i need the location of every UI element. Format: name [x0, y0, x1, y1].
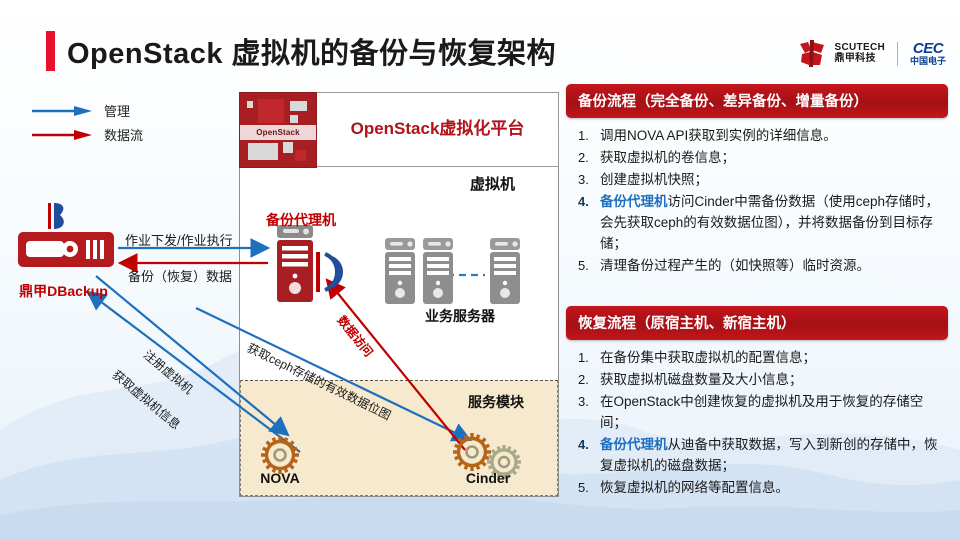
flow-step-text: 在OpenStack中创建恢复的虚拟机及用于恢复的存储空间； [600, 392, 948, 434]
flow-step-text: 获取虚拟机的卷信息； [600, 148, 948, 169]
flow-step-number: 2. [566, 370, 600, 390]
backup-flow-steps: 1.调用NOVA API获取到实例的详细信息。2.获取虚拟机的卷信息；3.创建虚… [566, 126, 948, 276]
scutech-name-cn: 鼎甲科技 [835, 54, 885, 65]
flow-step: 2.获取虚拟机的卷信息； [566, 148, 948, 169]
nova-gear-icon [261, 436, 299, 474]
cec-name-en: CEC [913, 41, 943, 57]
nova-label: NOVA [230, 470, 330, 486]
db-logo-icon-left [48, 203, 64, 229]
business-server-icon-1 [385, 238, 415, 304]
brand-divider [897, 42, 898, 66]
flow-step-highlight: 备份代理机 [600, 437, 668, 452]
flow-step: 3.创建虚拟机快照； [566, 170, 948, 191]
flow-step: 3.在OpenStack中创建恢复的虚拟机及用于恢复的存储空间； [566, 392, 948, 434]
flow-step: 5.清理备份过程产生的（如快照等）临时资源。 [566, 256, 948, 277]
flow-step-text: 获取虚拟机磁盘数量及大小信息； [600, 370, 948, 391]
restore-flow-panel: 恢复流程（原宿主机、新宿主机） 1.在备份集中获取虚拟机的配置信息；2.获取虚拟… [566, 306, 948, 499]
business-server-label: 业务服务器 [390, 306, 530, 326]
flow-step: 4.备份代理机访问Cinder中需备份数据（使用ceph存储时，会先获取ceph… [566, 192, 948, 255]
db-logo-icon-agent [316, 252, 341, 292]
flow-step: 2.获取虚拟机磁盘数量及大小信息； [566, 370, 948, 391]
flow-step-text: 创建虚拟机快照； [600, 170, 948, 191]
scutech-logo-icon [797, 40, 827, 67]
business-server-icon-2 [423, 238, 453, 304]
title-accent-bar [46, 31, 55, 71]
flow-step-text: 在备份集中获取虚拟机的配置信息； [600, 348, 948, 369]
dbackup-server-label: 鼎甲DBackup [6, 281, 121, 301]
backup-flow-heading: 备份流程（完全备份、差异备份、增量备份） [566, 84, 948, 118]
cec-name-cn: 中国电子 [910, 57, 946, 66]
scutech-name-en: SCUTECH [835, 43, 885, 54]
flow-step-number: 3. [566, 170, 600, 190]
flow-step-number: 4. [566, 435, 600, 455]
flow-step-text: 调用NOVA API获取到实例的详细信息。 [600, 126, 948, 147]
dbackup-server-icon [18, 232, 114, 267]
page-title: OpenStack 虚拟机的备份与恢复架构 [46, 30, 556, 72]
flow-step-text: 备份代理机访问Cinder中需备份数据（使用ceph存储时，会先获取ceph的有… [600, 192, 948, 255]
flow-step-number: 2. [566, 148, 600, 168]
flow-step-number: 5. [566, 256, 600, 276]
flow-step-highlight: 备份代理机 [600, 194, 668, 209]
flow-step-number: 5. [566, 478, 600, 498]
scutech-wordmark: SCUTECH 鼎甲科技 [835, 43, 885, 64]
cinder-gear-icon-1 [453, 433, 491, 471]
cinder-label: Cinder [438, 470, 538, 486]
backup-agent-server-icon [277, 225, 313, 302]
flow-step-text: 备份代理机从迪备中获取数据，写入到新创的存储中，恢复虚拟机的磁盘数据； [600, 435, 948, 477]
brand-logos: SCUTECH 鼎甲科技 CEC 中国电子 [797, 40, 946, 67]
flow-step-text: 清理备份过程产生的（如快照等）临时资源。 [600, 256, 948, 277]
flow-step-number: 1. [566, 348, 600, 368]
arrow-label-job-dispatch: 作业下发/作业执行 [125, 230, 233, 249]
business-server-icon-3 [490, 238, 520, 304]
flow-step: 1.调用NOVA API获取到实例的详细信息。 [566, 126, 948, 147]
flow-step-number: 1. [566, 126, 600, 146]
flow-step-number: 4. [566, 192, 600, 212]
cec-logo: CEC 中国电子 [910, 41, 946, 66]
flow-step-text: 恢复虚拟机的网络等配置信息。 [600, 478, 948, 499]
flow-step: 5.恢复虚拟机的网络等配置信息。 [566, 478, 948, 499]
flow-step-number: 3. [566, 392, 600, 412]
architecture-diagram: 虚拟机 服务模块 OpenStack OpenStack虚拟化平台 [0, 80, 565, 510]
flow-step: 1.在备份集中获取虚拟机的配置信息； [566, 348, 948, 369]
backup-flow-panel: 备份流程（完全备份、差异备份、增量备份） 1.调用NOVA API获取到实例的详… [566, 84, 948, 277]
restore-flow-steps: 1.在备份集中获取虚拟机的配置信息；2.获取虚拟机磁盘数量及大小信息；3.在Op… [566, 348, 948, 498]
arrow-label-backup-data: 备份（恢复）数据 [128, 266, 232, 285]
restore-flow-heading: 恢复流程（原宿主机、新宿主机） [566, 306, 948, 340]
flow-step: 4.备份代理机从迪备中获取数据，写入到新创的存储中，恢复虚拟机的磁盘数据； [566, 435, 948, 477]
backup-agent-label: 备份代理机 [246, 210, 356, 230]
title-text: OpenStack 虚拟机的备份与恢复架构 [67, 30, 556, 72]
